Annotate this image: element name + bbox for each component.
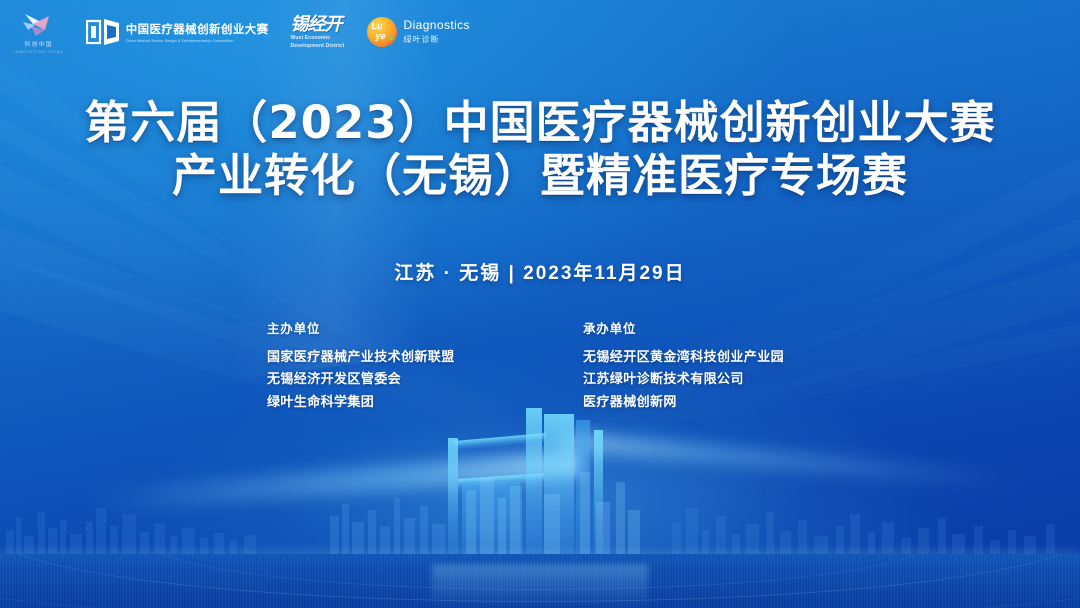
cmdc-en-label: China Medical Device Design & Entreprene… — [126, 39, 269, 43]
wuxi-calligraphy-mark: 锡经开 — [291, 15, 342, 33]
logo-wuxi-economic-development-district: 锡经开 Wuxi Economic Development District — [291, 15, 345, 50]
wuxi-en-line2: Development District — [291, 43, 345, 49]
luye-badge-lu: Lu — [372, 22, 383, 31]
host-column: 主办单位 国家医疗器械产业技术创新联盟 无锡经济开发区管委会 绿叶生命科学集团 — [267, 318, 497, 413]
logo-innovation-china: 科创中国 INNOVATION CHINA — [14, 10, 64, 54]
title-line-1: 第六届（2023）中国医疗器械创新创业大赛 — [84, 96, 995, 149]
list-item: 江苏绿叶诊断技术有限公司 — [583, 368, 813, 390]
luye-circle-icon: Lu ye — [367, 17, 397, 47]
luye-leaf-dot-icon — [389, 36, 393, 40]
title-line-2: 产业转化（无锡）暨精准医疗专场赛 — [0, 149, 1080, 202]
co-host-column: 承办单位 无锡经开区黄金湾科技创业产业园 江苏绿叶诊断技术有限公司 医疗器械创新… — [583, 318, 813, 413]
luye-en-label: Diagnostics — [404, 19, 470, 32]
logo-luye-diagnostics: Lu ye Diagnostics 绿叶诊断 — [367, 17, 470, 47]
host-heading: 主办单位 — [267, 318, 497, 337]
innovation-china-en-label: INNOVATION CHINA — [14, 50, 64, 54]
sponsor-logo-bar: 科创中国 INNOVATION CHINA 中国医疗器械创新创业大赛 China… — [0, 0, 1080, 64]
event-location-date: 江苏 · 无锡 | 2023年11月29日 — [0, 258, 1080, 285]
list-item: 绿叶生命科学集团 — [267, 391, 497, 413]
innovation-china-cn-label: 科创中国 — [25, 40, 53, 48]
wuxi-en-line1: Wuxi Economic — [291, 35, 331, 41]
page-title: 第六届（2023）中国医疗器械创新创业大赛 产业转化（无锡）暨精准医疗专场赛 — [0, 96, 1080, 202]
list-item: 国家医疗器械产业技术创新联盟 — [267, 346, 497, 368]
list-item: 无锡经开区黄金湾科技创业产业园 — [583, 346, 813, 368]
luye-cn-label: 绿叶诊断 — [404, 34, 470, 45]
poster-content: 第六届（2023）中国医疗器械创新创业大赛 产业转化（无锡）暨精准医疗专场赛 江… — [0, 0, 1080, 608]
list-item: 无锡经济开发区管委会 — [267, 368, 497, 390]
cmdc-cn-label: 中国医疗器械创新创业大赛 — [126, 21, 269, 37]
logo-cmdc: 中国医疗器械创新创业大赛 China Medical Device Design… — [86, 18, 269, 46]
innovation-china-bird-icon — [19, 10, 59, 38]
co-host-heading: 承办单位 — [583, 318, 813, 337]
list-item: 医疗器械创新网 — [583, 391, 813, 413]
cmdc-open-door-icon — [86, 18, 120, 46]
organizers-section: 主办单位 国家医疗器械产业技术创新联盟 无锡经济开发区管委会 绿叶生命科学集团 … — [0, 318, 1080, 413]
event-poster: 科创中国 INNOVATION CHINA 中国医疗器械创新创业大赛 China… — [0, 0, 1080, 608]
luye-badge-ye: ye — [376, 32, 386, 41]
